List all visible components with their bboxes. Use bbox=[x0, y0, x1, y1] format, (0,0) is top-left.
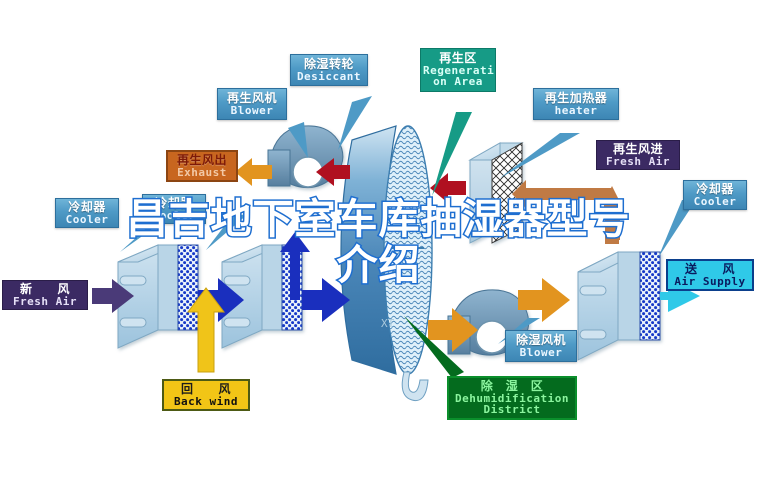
supply-cooler-unit bbox=[578, 252, 660, 360]
callout-en2: District bbox=[451, 404, 573, 416]
flow-exhaust-out bbox=[235, 158, 272, 186]
callout-desiccant-rotor[interactable]: 除湿转轮 Desiccant bbox=[290, 54, 368, 86]
callout-en: Exhaust bbox=[170, 167, 234, 179]
callout-en: Cooler bbox=[686, 196, 744, 208]
callout-en: Back wind bbox=[166, 396, 246, 408]
flow-regen-heater-in bbox=[512, 180, 620, 244]
callout-regen-heater[interactable]: 再生加热器 heater bbox=[533, 88, 619, 120]
callout-en: Fresh Air bbox=[599, 156, 677, 168]
callout-cn: 送 风 bbox=[670, 263, 750, 276]
schematic-artwork: XT bbox=[0, 0, 757, 488]
callout-air-supply[interactable]: 送 风 Air Supply bbox=[666, 259, 754, 291]
callout-en: Desiccant bbox=[293, 71, 365, 83]
callout-en: Cooler bbox=[145, 210, 203, 222]
callout-en: Cooler bbox=[58, 214, 116, 226]
callout-en: heater bbox=[536, 105, 616, 117]
callout-en: Fresh Air bbox=[5, 296, 85, 308]
callout-cn: 再生风出 bbox=[170, 154, 234, 167]
diagram-canvas: XT bbox=[0, 0, 757, 488]
svg-text:XT: XT bbox=[381, 317, 395, 330]
callout-cn: 冷却器 bbox=[58, 201, 116, 214]
callout-cn: 再生区 bbox=[423, 52, 493, 65]
callout-cn: 再生风进 bbox=[599, 143, 677, 156]
callout-regen-fresh-air[interactable]: 再生风进 Fresh Air bbox=[596, 140, 680, 170]
callout-cn: 再生加热器 bbox=[536, 92, 616, 105]
callout-cn: 回 风 bbox=[166, 383, 246, 396]
callout-fresh-air-in[interactable]: 新 风 Fresh Air bbox=[2, 280, 88, 310]
callout-en: Air Supply bbox=[670, 276, 750, 288]
callout-cooler-right[interactable]: 冷却器 Cooler bbox=[683, 180, 747, 210]
callout-en: Blower bbox=[508, 347, 574, 359]
callout-cooler-left[interactable]: 冷却器 Cooler bbox=[55, 198, 119, 228]
callout-cn: 除湿风机 bbox=[508, 334, 574, 347]
callout-en2: on Area bbox=[423, 76, 493, 88]
callout-dehumid-district[interactable]: 除 湿 区 Dehumidification District bbox=[447, 376, 577, 420]
callout-cn: 除湿转轮 bbox=[293, 58, 365, 71]
callout-back-wind[interactable]: 回 风 Back wind bbox=[162, 379, 250, 411]
callout-regen-exhaust[interactable]: 再生风出 Exhaust bbox=[166, 150, 238, 182]
desiccant-rotor: XT bbox=[341, 126, 432, 401]
callout-cn: 再生风机 bbox=[220, 92, 284, 105]
callout-regen-area[interactable]: 再生区 Regenerati on Area bbox=[420, 48, 496, 92]
callout-cn: 冷却器 bbox=[686, 183, 744, 196]
callout-en: Blower bbox=[220, 105, 284, 117]
callout-cn: 新 风 bbox=[5, 283, 85, 296]
callout-cn: 除 湿 区 bbox=[451, 380, 573, 393]
callout-cooler-mid[interactable]: 冷却器 Cooler bbox=[142, 194, 206, 224]
callout-dehumid-blower[interactable]: 除湿风机 Blower bbox=[505, 330, 577, 362]
callout-cn: 冷却器 bbox=[145, 197, 203, 210]
callout-regen-blower[interactable]: 再生风机 Blower bbox=[217, 88, 287, 120]
